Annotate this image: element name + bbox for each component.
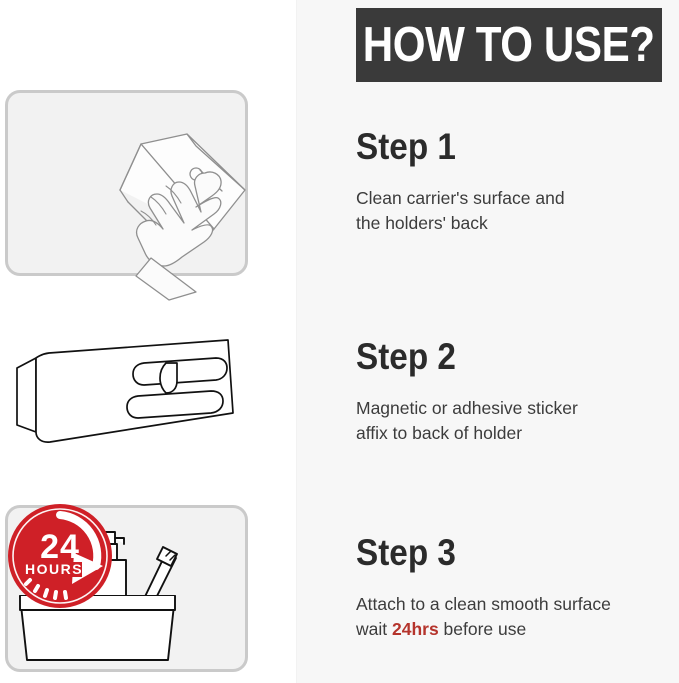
header-banner: HOW TO USE?: [356, 8, 662, 82]
step-1-line-2: the holders' back: [356, 213, 488, 233]
step-1-line-1: Clean carrier's surface and: [356, 188, 565, 208]
step-2-description: Magnetic or adhesive sticker affix to ba…: [356, 396, 679, 447]
step-block-1: Step 1 Clean carrier's surface and the h…: [356, 128, 679, 237]
wait-24-hours-caddy-icon: 24 HOURS: [0, 498, 260, 678]
step-2-line-2: affix to back of holder: [356, 423, 522, 443]
badge-unit: HOURS: [25, 561, 83, 577]
page-title: HOW TO USE?: [363, 21, 655, 70]
step-3-line-2-prefix: wait: [356, 619, 392, 639]
column-divider: [296, 0, 297, 683]
step-1-description: Clean carrier's surface and the holders'…: [356, 186, 679, 237]
step-block-3: Step 3 Attach to a clean smooth surface …: [356, 534, 679, 643]
step-3-line-2-suffix: before use: [439, 619, 527, 639]
step-3-line-1: Attach to a clean smooth surface: [356, 594, 611, 614]
step-2-line-1: Magnetic or adhesive sticker: [356, 398, 578, 418]
step-block-2: Step 2 Magnetic or adhesive sticker affi…: [356, 338, 679, 447]
hand-wiping-cloth-icon: [0, 90, 260, 300]
step-1-heading: Step 1: [356, 128, 649, 167]
how-to-use-infographic: HOW TO USE?: [0, 0, 679, 683]
step-2-heading: Step 2: [356, 338, 649, 377]
step-3-description: Attach to a clean smooth surface wait 24…: [356, 592, 679, 643]
holder-back-adhesive-strips-icon: [5, 335, 255, 470]
24-hours-badge: 24 HOURS: [8, 504, 112, 608]
step-3-heading: Step 3: [356, 534, 649, 573]
wait-duration-highlight: 24hrs: [392, 619, 439, 639]
